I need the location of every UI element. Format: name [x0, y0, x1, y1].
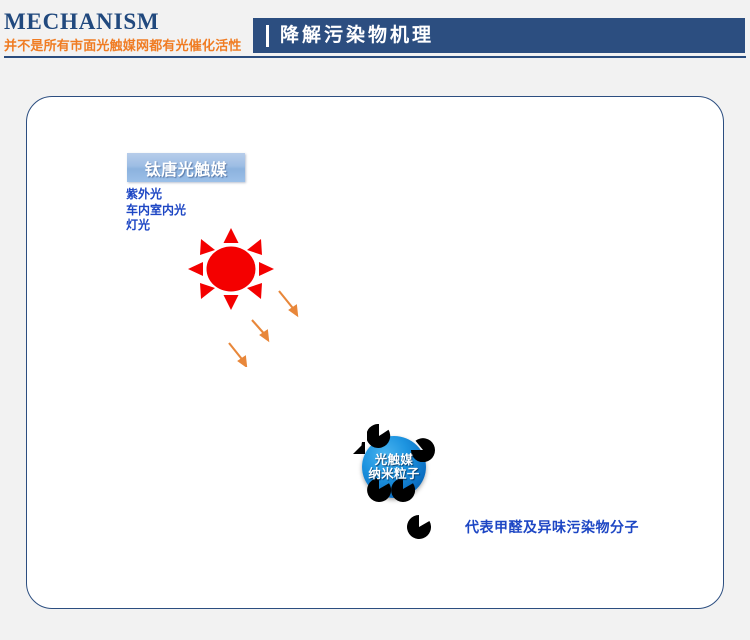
banner-accent-bar	[266, 25, 269, 47]
header-divider	[4, 56, 746, 58]
photocatalyst-nanoparticle: 光触媒 纳米粒子	[341, 424, 447, 509]
photocatalyst-brand-label-text: 钛唐光触媒	[145, 156, 228, 180]
pollutant-molecule-icon	[367, 478, 391, 504]
pollutant-molecule-icon	[341, 442, 365, 466]
light-source-item-2: 灯光	[126, 218, 186, 234]
page-subtitle: 并不是所有市面光触媒网都有光催化活性	[4, 37, 254, 55]
section-banner: 降解污染物机理	[253, 18, 745, 53]
light-source-list: 紫外光 车内室内光 灯光	[126, 187, 186, 234]
diagram-legend: 代表甲醛及异味污染物分子	[407, 515, 639, 539]
light-ray-arrow-icon	[217, 277, 317, 367]
brand-block: MECHANISM 并不是所有市面光触媒网都有光催化活性	[4, 10, 254, 55]
pollutant-molecule-icon	[407, 515, 431, 539]
pollutant-molecule-icon	[367, 424, 391, 448]
diagram-canvas: 钛唐光触媒 紫外光 车内室内光 灯光	[27, 97, 723, 608]
page-title: MECHANISM	[4, 10, 254, 34]
pollutant-molecule-icon	[411, 438, 435, 462]
banner-title: 降解污染物机理	[280, 26, 434, 45]
page-header: MECHANISM 并不是所有市面光触媒网都有光催化活性 降解污染物机理	[0, 0, 750, 58]
photocatalyst-brand-label: 钛唐光触媒	[127, 153, 245, 182]
light-source-item-1: 车内室内光	[126, 203, 186, 219]
mechanism-diagram-card: 钛唐光触媒 紫外光 车内室内光 灯光	[26, 96, 724, 609]
legend-label: 代表甲醛及异味污染物分子	[465, 517, 639, 537]
pollutant-molecule-icon	[391, 478, 415, 504]
light-source-item-0: 紫外光	[126, 187, 186, 203]
